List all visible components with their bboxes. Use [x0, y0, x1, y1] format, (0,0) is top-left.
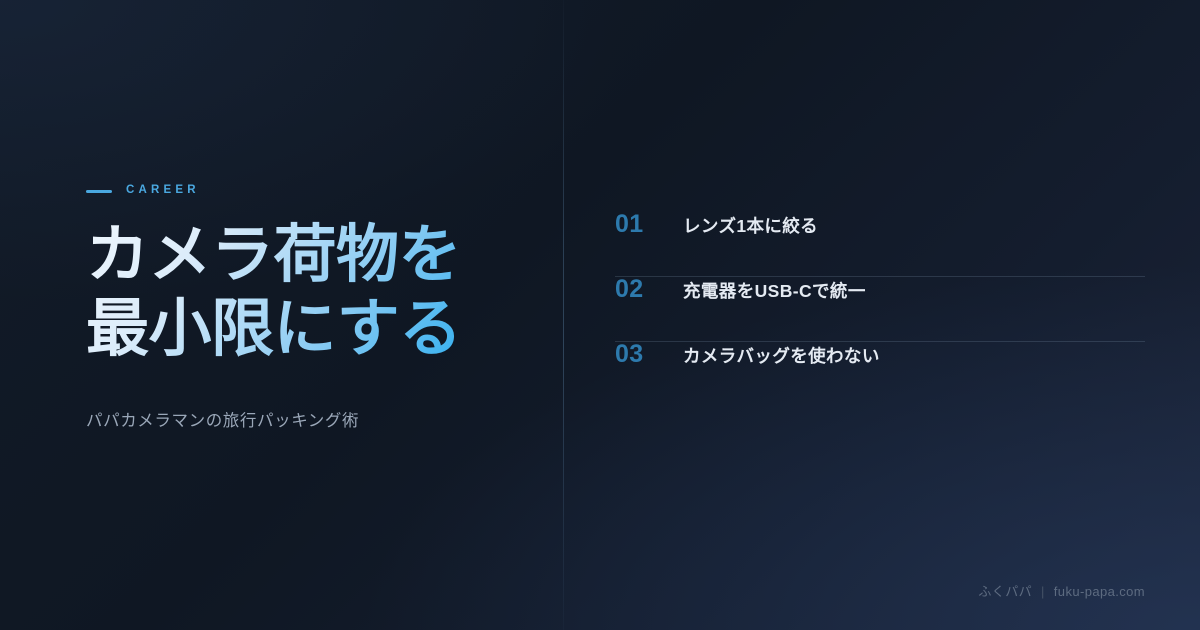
subtitle: パパカメラマンの旅行パッキング術 — [86, 409, 516, 434]
point-label: レンズ1本に絞る — [683, 215, 818, 238]
eyebrow: CAREER — [86, 182, 516, 200]
eyebrow-dash-icon — [86, 190, 112, 193]
point-number: 02 — [615, 277, 683, 302]
slide-canvas: CAREER カメラ荷物を 最小限にする パパカメラマンの旅行パッキング術 01… — [0, 0, 1200, 630]
point-number: 01 — [615, 212, 683, 237]
list-item: 03 カメラバッグを使わない — [615, 342, 1145, 406]
left-column: CAREER カメラ荷物を 最小限にする パパカメラマンの旅行パッキング術 — [86, 182, 516, 433]
eyebrow-label: CAREER — [126, 185, 200, 197]
point-label: カメラバッグを使わない — [683, 345, 880, 368]
point-number: 03 — [615, 342, 683, 367]
footer-divider: | — [1041, 585, 1045, 598]
brand-name: ふくパパ — [978, 585, 1032, 598]
list-item: 02 充電器をUSB-Cで統一 — [615, 277, 1145, 341]
list-item: 01 レンズ1本に絞る — [615, 212, 1145, 276]
footer-branding: ふくパパ | fuku-papa.com — [978, 585, 1145, 598]
column-divider — [563, 0, 564, 630]
page-title: カメラ荷物を 最小限にする — [86, 219, 516, 366]
site-url: fuku-papa.com — [1054, 585, 1145, 598]
points-list: 01 レンズ1本に絞る 02 充電器をUSB-Cで統一 03 カメラバッグを使わ… — [615, 212, 1145, 406]
point-label: 充電器をUSB-Cで統一 — [683, 280, 866, 303]
